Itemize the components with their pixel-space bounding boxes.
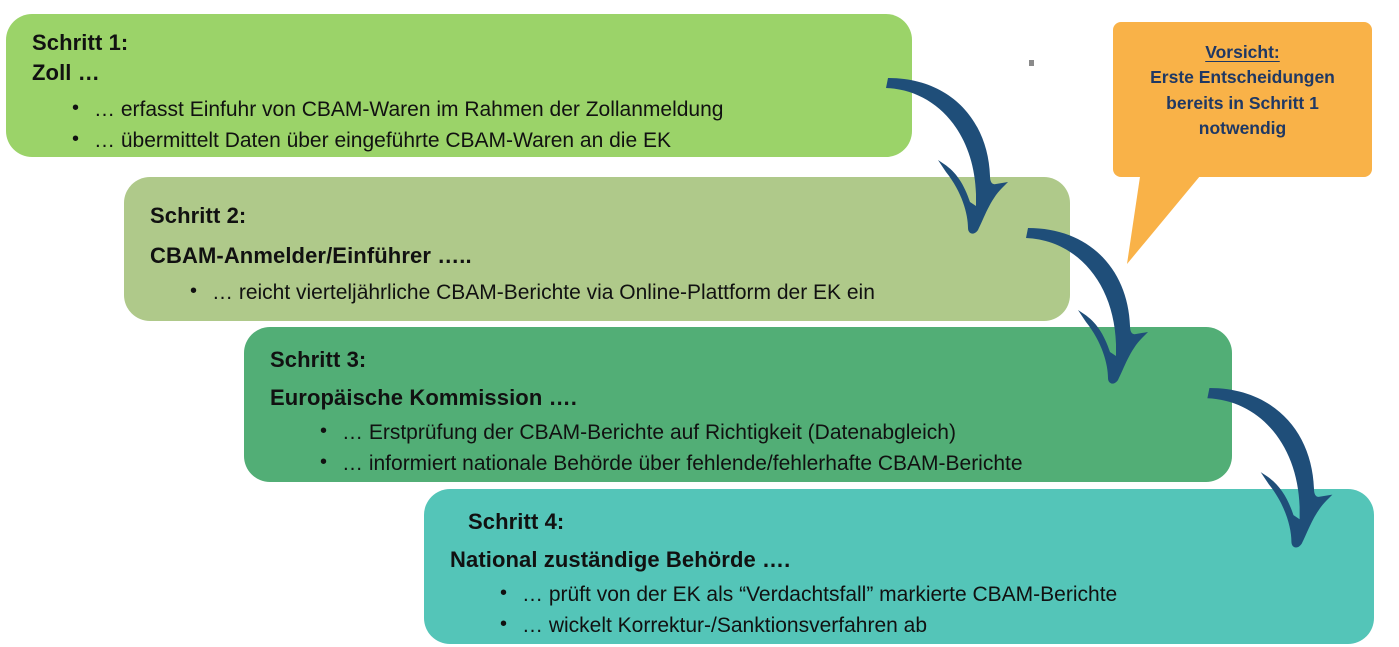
step-2-actor: CBAM-Anmelder/Einführer ….. — [150, 241, 1048, 271]
step-3-actor: Europäische Kommission …. — [270, 383, 1210, 413]
callout-line-2: bereits in Schritt 1 — [1127, 91, 1358, 116]
callout-tail-icon — [1113, 170, 1233, 266]
step-1-title: Schritt 1: — [32, 28, 890, 58]
list-item: … wickelt Korrektur-/Sanktionsverfahren … — [496, 611, 1352, 641]
step-1-actor: Zoll … — [32, 58, 890, 88]
list-item: … übermittelt Daten über eingeführte CBA… — [68, 126, 890, 156]
step-4-actor: National zuständige Behörde …. — [450, 545, 1352, 575]
step-box-3: Schritt 3: Europäische Kommission …. … E… — [244, 327, 1232, 482]
step-3-bullets: … Erstprüfung der CBAM-Berichte auf Rich… — [316, 418, 1210, 479]
step-2-title: Schritt 2: — [150, 201, 1048, 231]
list-item: … prüft von der EK als “Verdachtsfall” m… — [496, 580, 1352, 610]
step-box-1: Schritt 1: Zoll … … erfasst Einfuhr von … — [6, 14, 912, 157]
diagram-canvas: Schritt 1: Zoll … … erfasst Einfuhr von … — [0, 0, 1399, 647]
stray-speck — [1029, 60, 1034, 66]
callout-warning: Vorsicht: Erste Entscheidungen bereits i… — [1113, 22, 1372, 177]
step-4-bullets: … prüft von der EK als “Verdachtsfall” m… — [496, 580, 1352, 641]
callout-line-1: Erste Entscheidungen — [1127, 65, 1358, 90]
list-item: … erfasst Einfuhr von CBAM-Waren im Rahm… — [68, 95, 890, 125]
step-1-bullets: … erfasst Einfuhr von CBAM-Waren im Rahm… — [68, 95, 890, 156]
step-box-4: Schritt 4: National zuständige Behörde …… — [424, 489, 1374, 644]
step-box-2: Schritt 2: CBAM-Anmelder/Einführer ….. …… — [124, 177, 1070, 321]
callout-heading: Vorsicht: — [1127, 40, 1358, 65]
callout-line-3: notwendig — [1127, 116, 1358, 141]
step-3-title: Schritt 3: — [270, 345, 1210, 375]
step-2-bullets: … reicht vierteljährliche CBAM-Berichte … — [186, 278, 1048, 308]
list-item: … Erstprüfung der CBAM-Berichte auf Rich… — [316, 418, 1210, 448]
list-item: … reicht vierteljährliche CBAM-Berichte … — [186, 278, 1048, 308]
list-item: … informiert nationale Behörde über fehl… — [316, 449, 1210, 479]
step-4-title: Schritt 4: — [468, 507, 1352, 537]
